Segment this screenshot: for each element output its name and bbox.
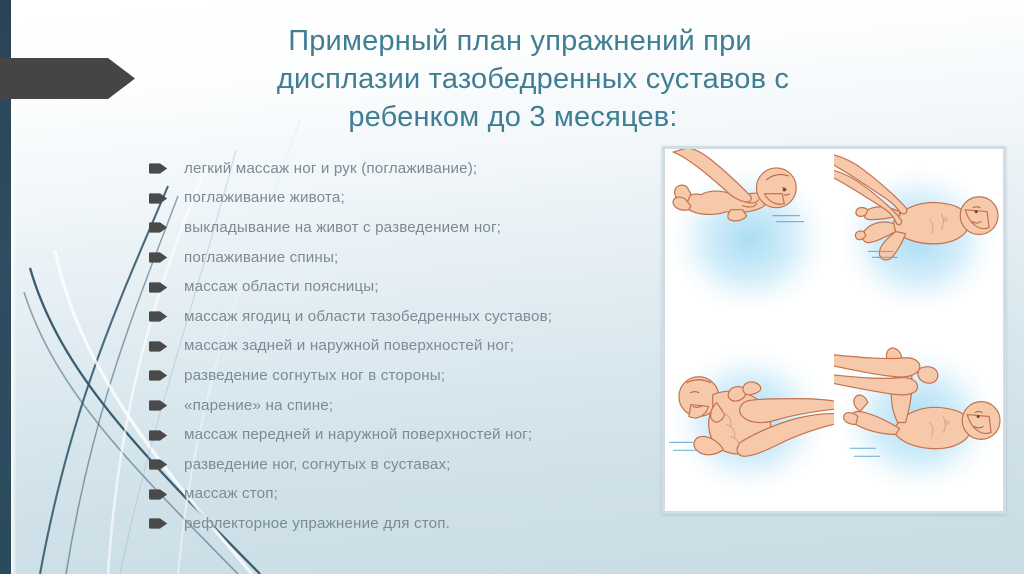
list-item-label: легкий массаж ног и рук (поглаживание); <box>184 160 477 178</box>
illustration-panel <box>662 146 1006 514</box>
list-item: массаж передней и наружной поверхностей … <box>148 420 658 450</box>
presentation-slide: Примерный план упражнений при дисплазии … <box>0 0 1024 574</box>
list-item-label: рефлекторное упражнение для стоп. <box>184 515 450 533</box>
arrow-pennant-icon <box>148 341 168 352</box>
list-item-label: поглаживание живота; <box>184 189 345 207</box>
list-item: разведение согнутых ног в стороны; <box>148 361 658 391</box>
page-title-line-2: дисплазии тазобедренных суставов с <box>170 60 870 98</box>
arrow-pennant-icon <box>148 222 168 233</box>
list-item-label: массаж передней и наружной поверхностей … <box>184 426 532 444</box>
arrow-pennant-icon <box>148 282 168 293</box>
page-title-line-1: Примерный план упражнений при <box>170 22 870 60</box>
list-item: рефлекторное упражнение для стоп. <box>148 509 658 539</box>
arrow-pennant-icon <box>148 430 168 441</box>
list-item-label: массаж стоп; <box>184 485 278 503</box>
page-title: Примерный план упражнений при дисплазии … <box>170 22 870 136</box>
list-item: массаж области поясницы; <box>148 272 658 302</box>
arrow-pennant-icon <box>148 370 168 381</box>
arrow-pennant-icon <box>148 489 168 500</box>
illustration-baby-supine-legs-apart <box>834 330 1003 511</box>
list-item: выкладывание на живот с разведением ног; <box>148 213 658 243</box>
arrow-pennant-icon <box>148 311 168 322</box>
list-item-label: разведение ног, согнутых в суставах; <box>184 456 451 474</box>
illustration-canvas <box>665 149 1003 511</box>
list-item-label: массаж задней и наружной поверхностей но… <box>184 337 514 355</box>
list-item: массаж задней и наружной поверхностей но… <box>148 332 658 362</box>
list-item-label: поглаживание спины; <box>184 249 338 267</box>
list-item: массаж стоп; <box>148 480 658 510</box>
list-item: поглаживание спины; <box>148 243 658 273</box>
exercise-list: легкий массаж ног и рук (поглаживание); … <box>148 154 658 539</box>
list-item-label: выкладывание на живот с разведением ног; <box>184 219 501 237</box>
list-item: «парение» на спине; <box>148 391 658 421</box>
list-item-label: массаж области поясницы; <box>184 278 379 296</box>
list-item: поглаживание живота; <box>148 184 658 214</box>
list-item: разведение ног, согнутых в суставах; <box>148 450 658 480</box>
arrow-pennant-icon <box>148 518 168 529</box>
list-item: массаж ягодиц и области тазобедренных су… <box>148 302 658 332</box>
arrow-pennant-icon <box>148 400 168 411</box>
arrow-pennant-icon <box>148 459 168 470</box>
list-item: легкий массаж ног и рук (поглаживание); <box>148 154 658 184</box>
illustration-baby-prone-back-massage <box>665 149 834 330</box>
illustration-baby-supine-leg-bend <box>834 149 1003 330</box>
arrow-pennant-icon <box>148 193 168 204</box>
illustration-baby-side-hip-massage <box>665 330 834 511</box>
list-item-label: массаж ягодиц и области тазобедренных су… <box>184 308 552 326</box>
arrow-pennant-icon <box>148 163 168 174</box>
list-item-label: разведение согнутых ног в стороны; <box>184 367 445 385</box>
arrow-pennant-icon <box>148 252 168 263</box>
right-arrow-banner-icon <box>0 56 136 101</box>
page-title-line-3: ребенком до 3 месяцев: <box>170 98 870 136</box>
list-item-label: «парение» на спине; <box>184 397 333 415</box>
